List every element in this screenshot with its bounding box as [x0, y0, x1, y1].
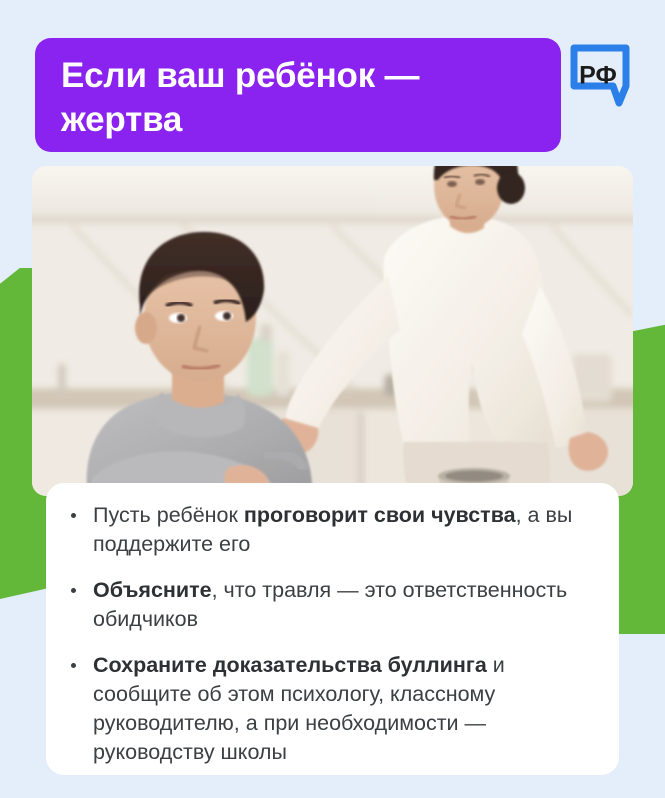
- advice-list-item: Объясните, что травля — это ответственно…: [68, 576, 597, 634]
- advice-emphasis: Объясните: [93, 578, 212, 602]
- bullet-dot-icon: [71, 663, 76, 668]
- advice-list-item-text: Сохраните доказательства буллинга и сооб…: [93, 653, 505, 764]
- advice-emphasis: Сохраните доказательства буллинга: [93, 653, 487, 677]
- advice-emphasis: проговорит свои чувства: [244, 503, 516, 527]
- advice-list: Пусть ребёнок проговорит свои чувства, а…: [68, 501, 597, 767]
- header: Если ваш ребёнок — жертва РФ: [0, 0, 665, 166]
- title-card: Если ваш ребёнок — жертва: [35, 38, 561, 152]
- advice-list-item-text: Пусть ребёнок проговорит свои чувства, а…: [93, 503, 572, 556]
- advice-plain: Пусть ребёнок: [93, 503, 244, 527]
- advice-list-item: Пусть ребёнок проговорит свои чувства, а…: [68, 501, 597, 559]
- advice-card: Пусть ребёнок проговорит свои чувства, а…: [46, 483, 619, 775]
- page-title: Если ваш ребёнок — жертва: [61, 54, 535, 142]
- photo-teen-and-mother: [32, 166, 633, 496]
- advice-list-item: Сохраните доказательства буллинга и сооб…: [68, 651, 597, 767]
- svg-text:РФ: РФ: [579, 62, 617, 90]
- advice-list-item-text: Объясните, что травля — это ответственно…: [93, 578, 567, 631]
- poster-root: Если ваш ребёнок — жертва РФ: [0, 0, 665, 798]
- bullet-dot-icon: [71, 513, 76, 518]
- bullet-dot-icon: [71, 588, 76, 593]
- rf-logo-icon: РФ: [569, 41, 631, 107]
